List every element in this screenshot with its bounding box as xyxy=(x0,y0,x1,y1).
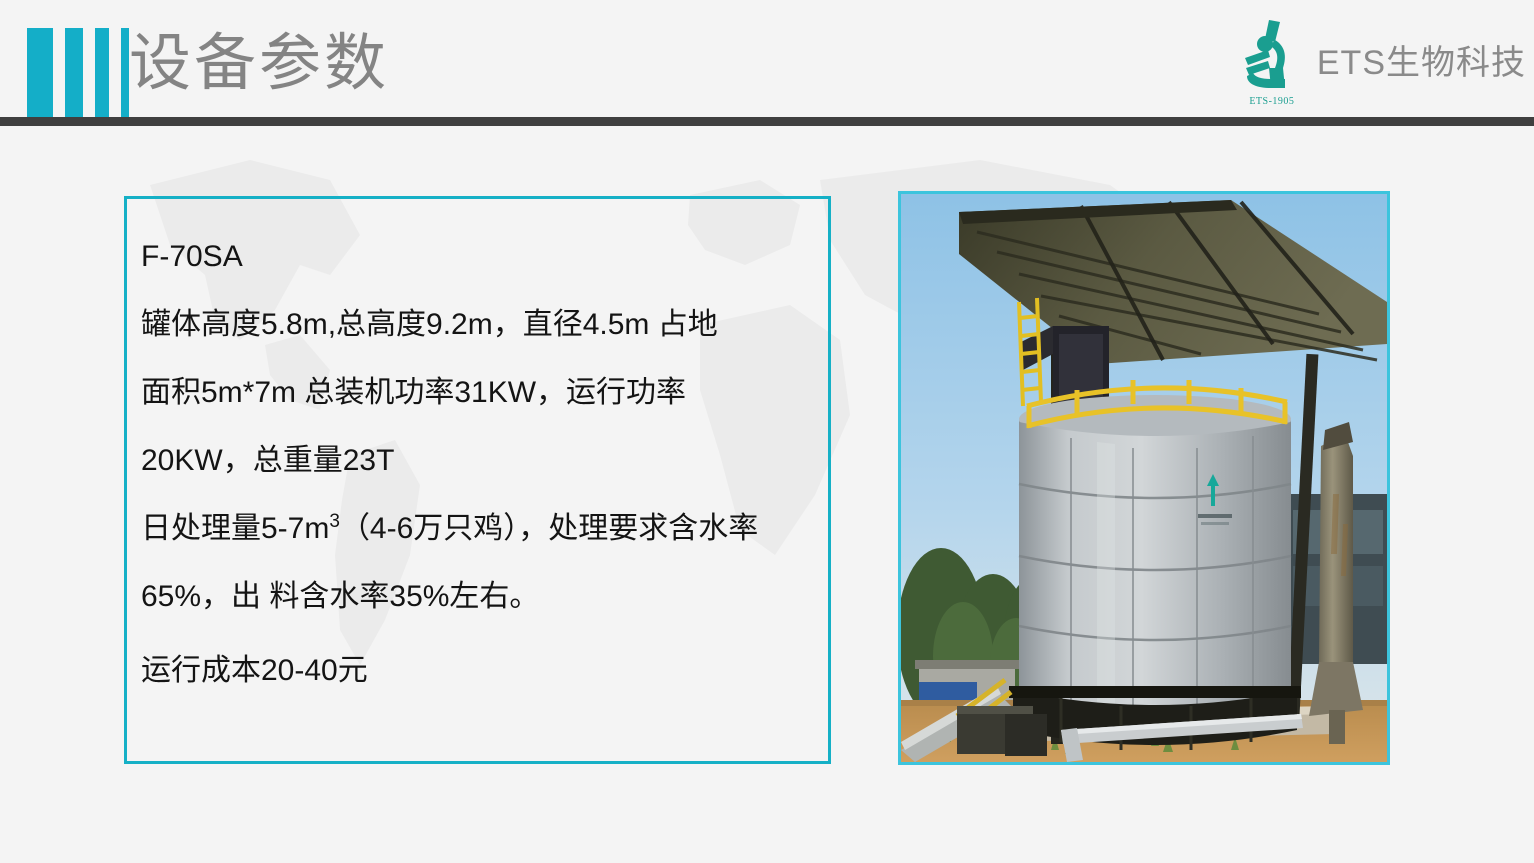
spec-line-area-power: 面积5m*7m 总装机功率31KW，运行功率 xyxy=(141,359,820,427)
slide-header: 设备参数 xyxy=(0,0,1534,117)
spec-line-power-weight: 20KW，总重量23T xyxy=(141,427,820,495)
accent-bar-2 xyxy=(65,28,83,117)
spec-capacity-suffix: （4-6万只鸡），处理要求含水率 xyxy=(340,512,758,545)
brand-logo: ETS-1905 ETS生物科技 xyxy=(1235,14,1526,110)
spec-card-body: F-70SA 罐体高度5.8m,总高度9.2m，直径4.5m 占地 面积5m*7… xyxy=(141,223,820,705)
accent-bar-1 xyxy=(27,28,53,117)
slide-root: 设备参数 xyxy=(0,0,1534,863)
spec-line-capacity: 日处理量5-7m3（4-6万只鸡），处理要求含水率 xyxy=(141,495,820,563)
brand-mark-caption: ETS-1905 xyxy=(1235,96,1309,107)
page-title: 设备参数 xyxy=(129,22,389,106)
spec-line-operating-cost: 运行成本20-40元 xyxy=(141,637,820,705)
spec-card: F-70SA 罐体高度5.8m,总高度9.2m，直径4.5m 占地 面积5m*7… xyxy=(124,196,831,764)
spec-model: F-70SA xyxy=(141,223,820,291)
equipment-photo-scene xyxy=(901,194,1387,762)
equipment-photo xyxy=(898,191,1390,765)
accent-bar-group xyxy=(27,28,129,117)
brand-name: ETS生物科技 xyxy=(1317,35,1526,90)
spec-line-moisture: 65%，出 料含水率35%左右。 xyxy=(141,563,820,631)
spec-capacity-superscript: 3 xyxy=(329,511,340,532)
accent-bar-4 xyxy=(121,28,129,117)
accent-bar-3 xyxy=(95,28,109,117)
header-divider xyxy=(0,117,1534,126)
spec-line-dimensions: 罐体高度5.8m,总高度9.2m，直径4.5m 占地 xyxy=(141,291,820,359)
microscope-icon: ETS-1905 xyxy=(1235,16,1309,108)
spec-capacity-prefix: 日处理量5-7m xyxy=(141,512,329,545)
